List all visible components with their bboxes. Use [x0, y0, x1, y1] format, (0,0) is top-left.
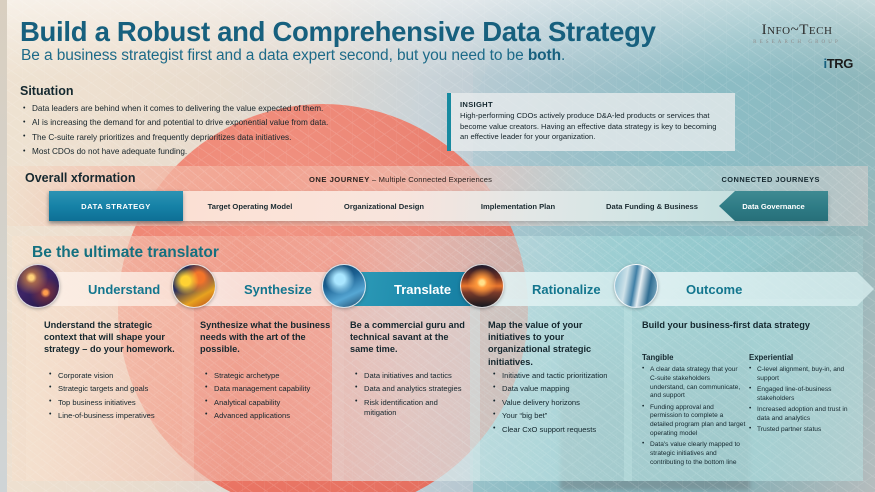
brand-logo: Info~Tech RESEARCH GROUP iTRG [737, 22, 857, 71]
journey-segment-implementation-plan[interactable]: Implementation Plan [451, 191, 585, 221]
outcome-subheading-tangible: Tangible [642, 353, 673, 362]
one-journey-bold: ONE JOURNEY [309, 175, 370, 184]
stage-understand: UnderstandUnderstand the strategic conte… [26, 269, 194, 481]
stage-chevron-understand[interactable]: Understand [40, 272, 192, 306]
logo-tagline: RESEARCH GROUP [737, 40, 857, 45]
outcome-subheading-experiential: Experiential [749, 353, 793, 362]
subtitle-text-pre: Be a business strategist first and a dat… [21, 47, 528, 64]
stage-heading: Build your business-first data strategy [642, 319, 851, 331]
city-reflection-icon [614, 264, 658, 308]
stage-bullet: Top business initiatives [48, 398, 182, 408]
stage-bullet: Value delivery horizons [492, 398, 620, 408]
stage-bullet: Data initiatives and tactics [354, 371, 468, 381]
subtitle-emphasis: both [528, 47, 561, 64]
stage-bullet: Data and analytics strategies [354, 384, 468, 394]
stage-translate: TranslateBe a commercial guru and techni… [332, 269, 480, 481]
stage-bullet: Initiative and tactic prioritization [492, 371, 620, 381]
stage-heading: Understand the strategic context that wi… [44, 319, 182, 356]
panel-title: Be the ultimate translator [32, 244, 219, 262]
globe-network-icon [16, 264, 60, 308]
situation-bullet: Data leaders are behind when it comes to… [20, 103, 420, 115]
outcome-bullet-list-experiential: C-level alignment, buy-in, and supportEn… [749, 366, 857, 438]
situation-section: Situation Data leaders are behind when i… [20, 84, 420, 161]
stage-bullet-list: Initiative and tactic prioritizationData… [492, 371, 620, 438]
colorful-head-icon [172, 264, 216, 308]
situation-bullet: AI is increasing the demand for and pote… [20, 117, 420, 129]
insight-body: High-performing CDOs actively produce D&… [460, 111, 725, 143]
stage-bullet: Strategic targets and goals [48, 384, 182, 394]
outcome-bullet: A clear data strategy that your C-suite … [642, 366, 746, 401]
page-subtitle: Be a business strategist first and a dat… [21, 47, 565, 65]
stage-bullet: Data value mapping [492, 384, 620, 394]
situation-bullet: Most CDOs do not have adequate funding. [20, 146, 420, 158]
outcome-bullet: Increased adoption and trust in data and… [749, 406, 857, 424]
stage-bullet: Clear CxO support requests [492, 425, 620, 435]
sunset-horizon-icon [460, 264, 504, 308]
stage-rationalize: RationalizeMap the value of your initiat… [470, 269, 632, 481]
stage-heading: Synthesize what the business needs with … [200, 319, 332, 356]
connected-journeys-caption: CONNECTED JOURNEYS [721, 175, 820, 184]
stage-bullet: Data management capability [204, 384, 332, 394]
stage-bullet: Line-of-business imperatives [48, 411, 182, 421]
translator-panel: Be the ultimate translator UnderstandUnd… [12, 236, 863, 481]
outcome-bullet: C-level alignment, buy-in, and support [749, 366, 857, 384]
outcome-bullet: Data's value clearly mapped to strategic… [642, 441, 746, 467]
journey-segment-data-governance[interactable]: Data Governance [719, 191, 828, 221]
journey-segment-organizational-design[interactable]: Organizational Design [317, 191, 451, 221]
infographic-poster: Build a Robust and Comprehensive Data St… [0, 0, 875, 492]
stage-bullet: Analytical capability [204, 398, 332, 408]
situation-bullet-list: Data leaders are behind when it comes to… [20, 103, 420, 159]
stage-bullet: Risk identification and mitigation [354, 398, 468, 419]
outcome-bullet: Funding approval and permission to compl… [642, 404, 746, 439]
stage-bullet: Corporate vision [48, 371, 182, 381]
subtitle-text-post: . [561, 47, 565, 64]
stage-bullet: Your “big bet” [492, 411, 620, 421]
stage-heading: Map the value of your initiatives to you… [488, 319, 620, 368]
logo-wordmark: Info~Tech [737, 22, 857, 39]
stage-outcome: OutcomeBuild your business-first data st… [624, 269, 863, 481]
outcome-bullet-list-tangible: A clear data strategy that your C-suite … [642, 366, 746, 470]
stage-synthesize: SynthesizeSynthesize what the business n… [182, 269, 344, 481]
stage-bullet: Strategic archetype [204, 371, 332, 381]
journey-segment-track: DATA STRATEGYTarget Operating ModelOrgan… [49, 191, 828, 221]
situation-heading: Situation [20, 84, 420, 98]
journey-segment-data-funding-business[interactable]: Data Funding & Business [585, 191, 719, 221]
journey-segment-data-strategy[interactable]: DATA STRATEGY [49, 191, 183, 221]
outcome-bullet: Engaged line-of-business stakeholders [749, 386, 857, 404]
insight-callout: INSIGHT High-performing CDOs actively pr… [447, 93, 735, 151]
stage-bullet-list: Corporate visionStrategic targets and go… [48, 371, 182, 425]
blue-statue-head-icon [322, 264, 366, 308]
situation-bullet: The C-suite rarely prioritizes and frequ… [20, 132, 420, 144]
journey-segment-target-operating-model[interactable]: Target Operating Model [183, 191, 317, 221]
one-journey-caption: ONE JOURNEY – Multiple Connected Experie… [309, 175, 492, 184]
one-journey-rest: – Multiple Connected Experiences [370, 175, 492, 184]
band-heading: Overall xformation [25, 171, 135, 185]
outcome-bullet: Trusted partner status [749, 426, 857, 435]
stage-bullet-list: Data initiatives and tacticsData and ana… [354, 371, 468, 422]
stage-bullet-list: Strategic archetypeData management capab… [204, 371, 332, 425]
left-edge-strip [0, 0, 7, 492]
stage-heading: Be a commercial guru and technical savan… [350, 319, 468, 356]
stage-chevron-outcome[interactable]: Outcome [638, 272, 874, 306]
itrg-logo-rest: TRG [827, 56, 853, 71]
transformation-journey-band: Overall xformation ONE JOURNEY – Multipl… [7, 166, 868, 226]
insight-label: INSIGHT [460, 100, 725, 109]
stage-bullet: Advanced applications [204, 411, 332, 421]
page-title: Build a Robust and Comprehensive Data St… [20, 16, 656, 48]
itrg-logo: iTRG [737, 56, 853, 71]
